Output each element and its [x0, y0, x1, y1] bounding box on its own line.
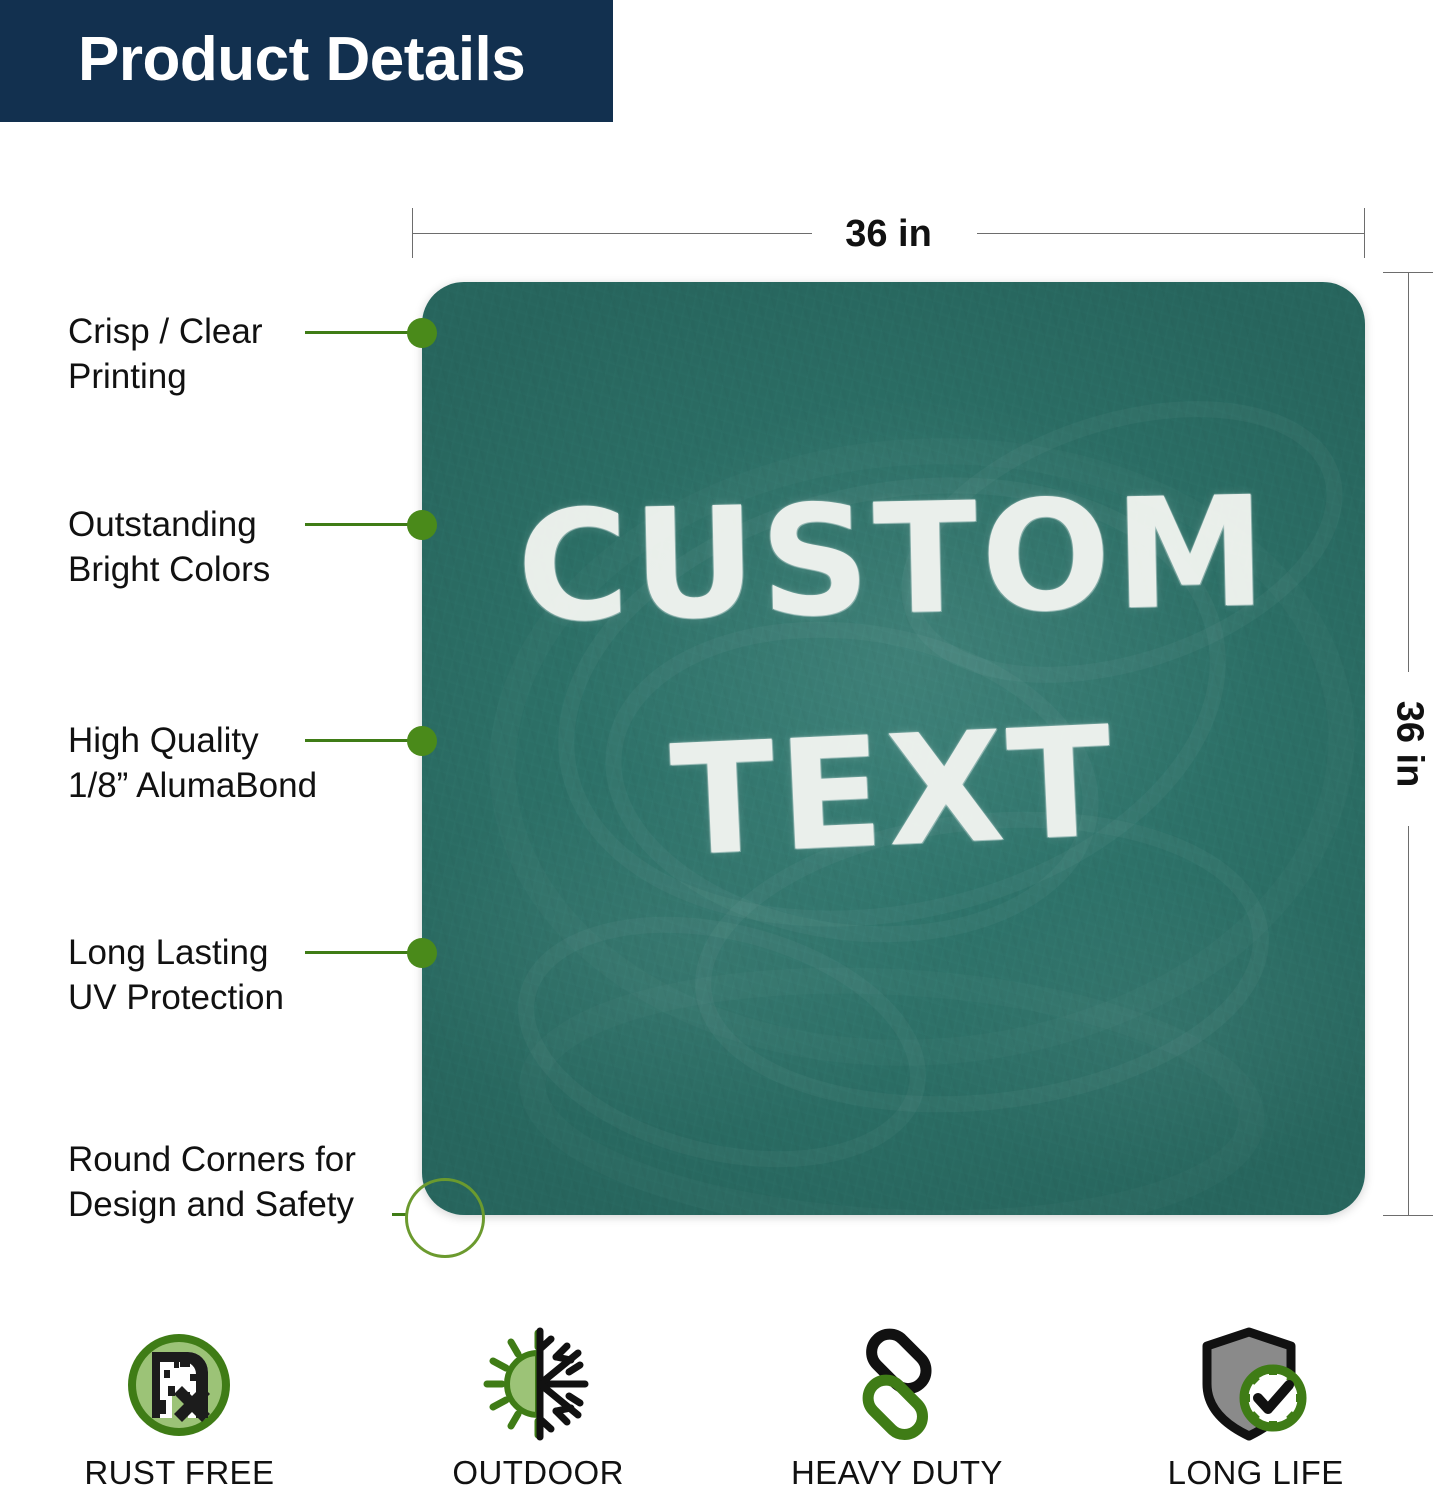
feature-badges-row: RUST FREE	[0, 1315, 1435, 1500]
chain-link-icon	[839, 1327, 954, 1442]
badge-heavy-duty: HEAVY DUTY	[718, 1315, 1077, 1500]
badge-label: OUTDOOR	[452, 1454, 623, 1492]
infographic-canvas: Product Details 36 in 36 in	[0, 0, 1435, 1500]
leader-line-2	[305, 523, 415, 526]
dimension-height: 36 in	[1383, 272, 1435, 1216]
leader-dot-3	[407, 726, 437, 756]
round-corner-highlight-circle	[405, 1178, 485, 1258]
badge-label: HEAVY DUTY	[791, 1454, 1003, 1492]
badge-label: RUST FREE	[84, 1454, 274, 1492]
badge-rust-free: RUST FREE	[0, 1315, 359, 1500]
badge-long-life: LONG LIFE	[1076, 1315, 1435, 1500]
dimension-height-label: 36 in	[1388, 701, 1431, 788]
badge-label: LONG LIFE	[1168, 1454, 1344, 1492]
rust-free-icon	[124, 1327, 234, 1442]
chalk-text-block: CUSTOM TEXT	[422, 480, 1365, 872]
dimension-width: 36 in	[412, 208, 1365, 260]
feature-label: Outstanding Bright Colors	[68, 502, 408, 592]
feature-callout-high-quality-alumabond: High Quality 1/8” AlumaBond	[68, 718, 428, 808]
feature-label: High Quality 1/8” AlumaBond	[68, 718, 428, 808]
feature-callout-crisp-clear-printing: Crisp / Clear Printing	[68, 309, 408, 399]
feature-callout-round-corners: Round Corners for Design and Safety	[68, 1137, 448, 1227]
leader-line-3	[305, 739, 415, 742]
badge-outdoor: OUTDOOR	[359, 1315, 718, 1500]
feature-callout-outstanding-bright-colors: Outstanding Bright Colors	[68, 502, 408, 592]
page-title: Product Details	[78, 22, 525, 98]
leader-line-4	[305, 951, 415, 954]
feature-label: Long Lasting UV Protection	[68, 930, 408, 1020]
product-chalkboard: CUSTOM TEXT	[422, 282, 1365, 1215]
feature-label: Crisp / Clear Printing	[68, 309, 408, 399]
sun-snowflake-icon	[481, 1327, 596, 1442]
dimension-height-line-top	[1408, 272, 1409, 672]
leader-line-1	[305, 331, 415, 334]
header-banner: Product Details	[0, 0, 613, 122]
chalk-text-line-2: TEXT	[422, 691, 1365, 894]
shield-clock-icon	[1197, 1327, 1315, 1442]
dimension-width-label: 36 in	[412, 208, 1365, 260]
chalkboard-texture	[422, 282, 1365, 1215]
feature-label: Round Corners for Design and Safety	[68, 1137, 448, 1227]
leader-dot-2	[407, 510, 437, 540]
chalk-text-line-1: CUSTOM	[422, 470, 1365, 650]
dimension-height-line-bottom	[1408, 826, 1409, 1216]
feature-callout-long-lasting-uv-protection: Long Lasting UV Protection	[68, 930, 408, 1020]
leader-dot-4	[407, 938, 437, 968]
leader-dot-1	[407, 318, 437, 348]
chalkboard-swirl-overlay	[422, 282, 1365, 1215]
